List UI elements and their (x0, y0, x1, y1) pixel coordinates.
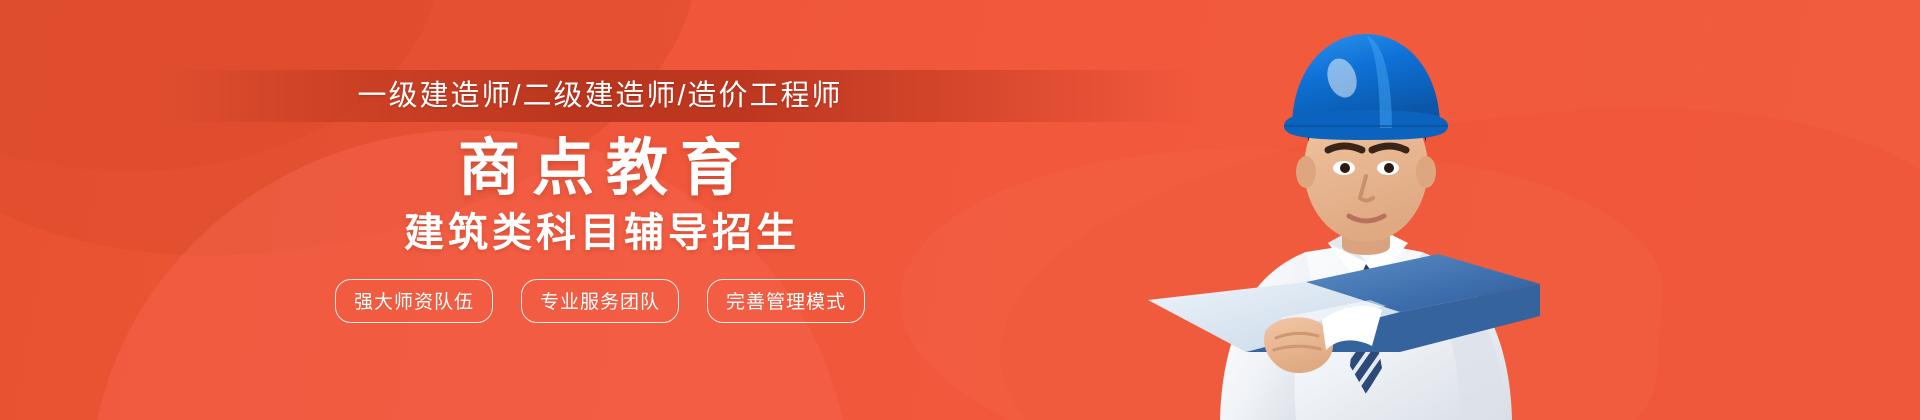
badge-list: 强大师资队伍 专业服务团队 完善管理模式 (335, 279, 865, 323)
banner-tagline: 建筑类科目辅导招生 (400, 211, 800, 255)
badge-service-team[interactable]: 专业服务团队 (521, 279, 679, 323)
engineer-photo (1070, 0, 1590, 420)
banner-subtitle: 一级建造师/二级建造师/造价工程师 (357, 70, 842, 122)
banner-title: 商点教育 (446, 136, 754, 201)
badge-management-model[interactable]: 完善管理模式 (707, 279, 865, 323)
banner-copy-block: 一级建造师/二级建造师/造价工程师 商点教育 建筑类科目辅导招生 强大师资队伍 … (0, 0, 1200, 420)
promo-banner: 一级建造师/二级建造师/造价工程师 商点教育 建筑类科目辅导招生 强大师资队伍 … (0, 0, 1920, 420)
badge-faculty[interactable]: 强大师资队伍 (335, 279, 493, 323)
